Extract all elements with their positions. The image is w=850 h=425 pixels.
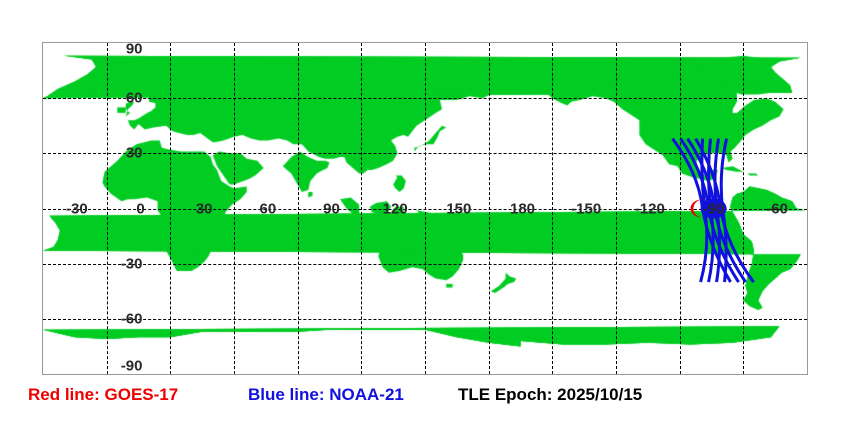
latitude-tick-label: -30 (121, 256, 143, 271)
satellite-track-map-page: 906030-30-60-90-300306090120150180-150-1… (0, 0, 850, 425)
latitude-tick-label: -60 (121, 311, 143, 326)
legend-red-line-goes: Red line: GOES-17 (28, 386, 178, 403)
latitude-tick-label: 60 (126, 91, 143, 106)
longitude-tick-label: -90 (703, 201, 725, 216)
longitude-tick-label: -60 (766, 201, 788, 216)
longitude-tick-label: 180 (510, 201, 535, 216)
longitude-tick-label: -120 (635, 201, 665, 216)
latitude-tick-label: 90 (126, 42, 143, 57)
longitude-tick-label: 60 (259, 201, 276, 216)
latitude-tick-label: -90 (121, 359, 143, 374)
world-map-frame: 906030-30-60-90-300306090120150180-150-1… (42, 42, 808, 375)
longitude-tick-label: 120 (383, 201, 408, 216)
longitude-tick-label: -30 (66, 201, 88, 216)
legend-blue-line-noaa: Blue line: NOAA-21 (248, 386, 404, 403)
longitude-tick-label: 30 (196, 201, 213, 216)
map-legend: Red line: GOES-17 Blue line: NOAA-21 TLE… (0, 386, 850, 416)
longitude-tick-label: -150 (571, 201, 601, 216)
longitude-tick-label: 0 (136, 201, 144, 216)
satellite-track-overlay (43, 43, 807, 374)
longitude-tick-label: 150 (446, 201, 471, 216)
latitude-tick-label: 30 (126, 146, 143, 161)
longitude-tick-label: 90 (323, 201, 340, 216)
legend-tle-epoch: TLE Epoch: 2025/10/15 (458, 386, 642, 403)
